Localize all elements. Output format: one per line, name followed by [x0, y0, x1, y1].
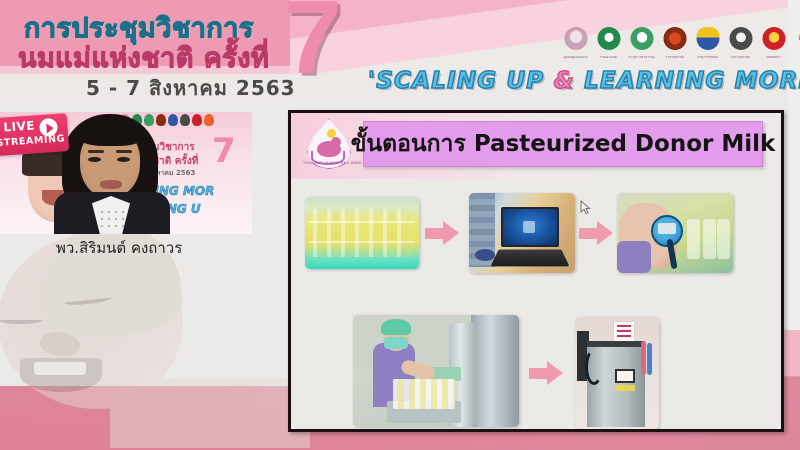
poster-edition-number: 7 [212, 134, 236, 168]
laptop-computer-photo [469, 193, 575, 273]
thermometer-device-photo [617, 193, 733, 273]
streaming-label: STREAMING [0, 133, 65, 149]
ministry-public-health-logo: กรมอนามัย [595, 26, 622, 60]
tagline-prefix: 'SCALING UP [368, 68, 554, 94]
nurse-handling-milk-photo [353, 315, 519, 427]
speaker-name-label: พว.สิริมนต์ คงถาวร [56, 236, 182, 260]
flow-arrow-1 [425, 221, 459, 245]
logo-ring-text: THAILAND HUMAN MILK BANK [303, 161, 355, 165]
department-health-logo: กระทรวงสาธารณสุข [628, 26, 655, 60]
tagline-suffix: LEARNING MORE' [575, 68, 800, 94]
conference-tagline: 'SCALING UP & LEARNING MORE' [368, 68, 800, 94]
conference-edition-number: 7 [284, 0, 342, 90]
thaihealth-sss-logo: สสสสสส [793, 26, 800, 60]
presentation-broadcast-screen: การประชุมวิชาการ นมแม่แห่งชาติ ครั้งที่ … [0, 0, 800, 450]
royal-college-logo: ราชวิทยาลัย [661, 26, 688, 60]
university-seal-logo: มหาวิทยาลัย [727, 26, 754, 60]
slide-title-bar: ขั้นตอนการ Pasteurized Donor Milk [363, 121, 763, 167]
speaker-person [52, 112, 168, 234]
pasteurizer-machine-photo [575, 317, 659, 429]
milk-bottles-rack-photo [305, 197, 419, 269]
live-label: LIVE [3, 118, 36, 134]
organizer-logos-row: มูลนิธิศูนย์นมแม่ กรมอนามัย กระทรวงสาธาร… [562, 26, 800, 60]
red-medical-seal-logo: แพทยสภา [760, 26, 787, 60]
flow-arrow-2 [579, 221, 613, 245]
royal-patronage-logo: มูลนิธิศูนย์นมแม่ [562, 26, 589, 60]
presentation-slide: THAILAND HUMAN MILK BANK ขั้นตอนการ Past… [288, 110, 784, 432]
thai-emblem-logo: กรมการแพทย์ [694, 26, 721, 60]
conference-dates: 5 - 7 สิงหาคม 2563 [86, 72, 296, 104]
mouse-cursor [580, 200, 591, 215]
tagline-ampersand: & [554, 68, 575, 94]
flow-arrow-3 [529, 361, 563, 385]
slide-title: ขั้นตอนการ Pasteurized Donor Milk [351, 126, 776, 162]
live-streaming-badge: LIVE STREAMING [0, 113, 69, 157]
